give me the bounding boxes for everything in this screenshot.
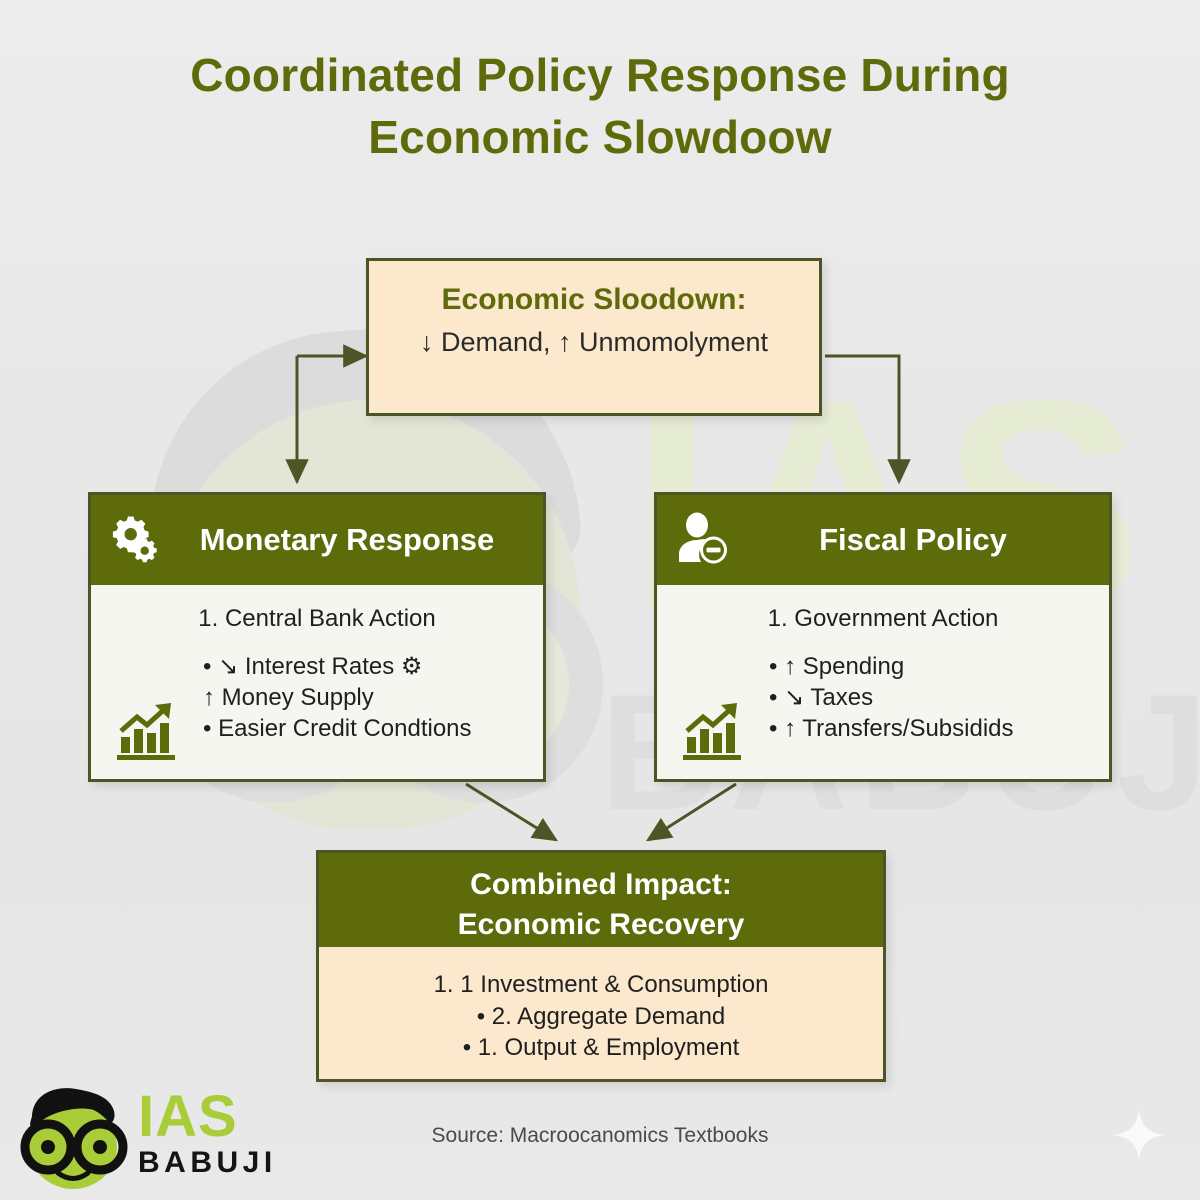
monetary-response-header: Monetary Response (91, 495, 543, 585)
list-item: • Easier Credit Condtions (203, 713, 543, 744)
gears-icon (109, 510, 165, 571)
monetary-response-lead: 1. Central Bank Action (91, 605, 543, 633)
ias-babuji-face-icon (14, 1085, 132, 1193)
fiscal-policy-lead: 1. Government Action (657, 605, 1109, 633)
brand-logo-text: IAS BABUJI (138, 1089, 277, 1179)
list-item: • 1. Output & Employment (319, 1032, 883, 1064)
economic-slowdown-subtitle: ↓ Demand, ↑ Unmomolyment (420, 327, 768, 358)
combined-impact-header-line-2: Economic Recovery (319, 905, 883, 945)
combined-impact-header: Combined Impact: Economic Recovery (319, 853, 883, 947)
sparkle-icon (1112, 1108, 1166, 1162)
connector-slowdown-to-fiscal (825, 356, 899, 482)
combined-impact-list: 1. 1 Investment & Consumption • 2. Aggre… (319, 947, 883, 1064)
fiscal-policy-title: Fiscal Policy (745, 522, 1109, 558)
page-title-line-1: Coordinated Policy Response During (0, 44, 1200, 106)
list-item: • ↘ Interest Rates ⚙ (203, 651, 543, 682)
combined-impact-header-line-1: Combined Impact: (319, 865, 883, 905)
combined-impact-box: Combined Impact: Economic Recovery 1. 1 … (316, 850, 886, 1082)
connector-monetary-to-impact (466, 784, 556, 840)
infographic-canvas: IAS BABUJI Coordinated Policy Response D… (0, 0, 1200, 1200)
list-item: ↑ Money Supply (203, 682, 543, 713)
brand-logo-ias: IAS (138, 1089, 277, 1144)
bar-chart-growth-icon (115, 701, 185, 763)
fiscal-policy-panel: Fiscal Policy 1. Government Action (654, 492, 1112, 782)
list-item: • ↘ Taxes (769, 682, 1109, 713)
economic-slowdown-box: Economic Sloodown: ↓ Demand, ↑ Unmomolym… (366, 258, 822, 416)
economic-slowdown-title: Economic Sloodown: (442, 283, 747, 317)
brand-logo-babuji: BABUJI (138, 1146, 277, 1179)
monetary-response-body: 1. Central Bank Action • ↘ Interest Rat (91, 585, 543, 779)
monetary-response-title: Monetary Response (179, 522, 543, 558)
bar-chart-growth-icon (681, 701, 751, 763)
fiscal-policy-header: Fiscal Policy (657, 495, 1109, 585)
connector-fiscal-to-impact (648, 784, 736, 840)
list-item: • ↑ Transfers/Subsidids (769, 713, 1109, 744)
monetary-response-panel: Monetary Response 1. Central Bank Action (88, 492, 546, 782)
page-title-line-2: Economic Slowdoow (0, 106, 1200, 168)
page-title: Coordinated Policy Response During Econo… (0, 44, 1200, 168)
fiscal-policy-body: 1. Government Action • ↑ Spending (657, 585, 1109, 779)
person-minus-icon (675, 510, 731, 571)
list-item: • ↑ Spending (769, 651, 1109, 682)
list-item: 1. 1 Investment & Consumption (319, 969, 883, 1001)
list-item: • 2. Aggregate Demand (319, 1001, 883, 1033)
brand-logo: IAS BABUJI (14, 1085, 314, 1193)
